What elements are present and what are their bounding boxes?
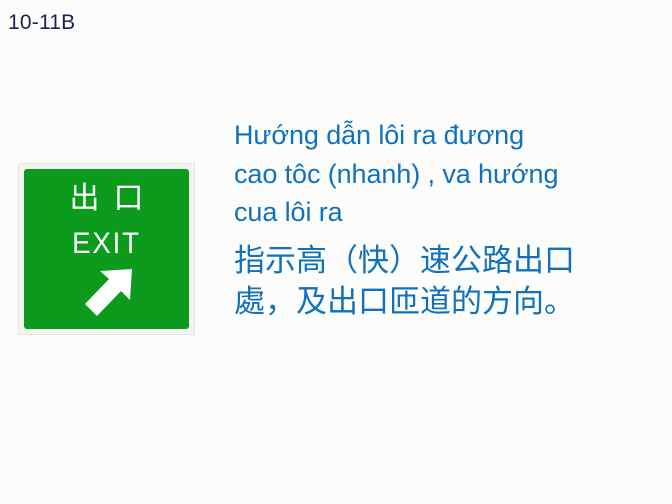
vietnamese-line: cua lôi ra: [234, 193, 664, 232]
vietnamese-line: cao tôc (nhanh) , va hướng: [234, 155, 664, 194]
sign-face: 出口 EXIT: [24, 169, 189, 329]
chinese-line: 指示高（快）速公路出口: [234, 241, 664, 282]
arrow-up-right-icon: [80, 267, 138, 323]
vietnamese-line: Hướng dẫn lôi ra đương: [234, 116, 664, 155]
sign-latin-label: EXIT: [31, 227, 183, 261]
exit-sign-figure: 出口 EXIT: [19, 164, 194, 334]
vietnamese-caption: Hướng dẫn lôi ra đương cao tôc (nhanh) ,…: [234, 116, 664, 232]
caption-block: Hướng dẫn lôi ra đương cao tôc (nhanh) ,…: [234, 116, 664, 323]
slide-label: 10-11B: [8, 10, 75, 35]
chinese-caption: 指示高（快）速公路出口 處，及出口匝道的方向。: [234, 241, 664, 323]
chinese-line: 處，及出口匝道的方向。: [234, 282, 664, 323]
sign-hanzi-label: 出口: [24, 179, 189, 219]
